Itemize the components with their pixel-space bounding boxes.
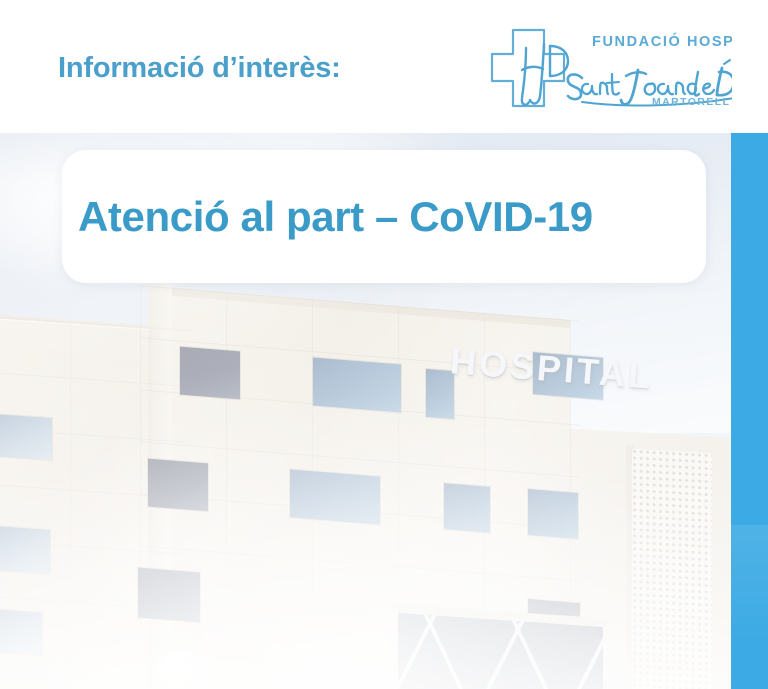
window [528,489,578,539]
canopy-brace [418,613,486,689]
logo-line3: MARTORELL [652,96,730,108]
window [0,526,50,574]
logo-line1: FUNDACIÓ HOSPITAL [592,32,732,50]
canopy-brace [506,613,574,689]
accent-bar-glint [731,525,768,645]
globe-lamp [158,651,204,689]
right-accent-bar [731,133,768,689]
header-band: Informació d’interès: FUNDACIÓ HOSPITAL [0,0,768,133]
canopy-brace [550,615,603,689]
title-card: Atenció al part – CoVID-19 [62,150,706,283]
entrance-canopy [398,613,603,689]
canopy-brace [462,613,530,689]
window [148,459,208,512]
perforated-facade-panel [632,449,712,689]
window [0,609,42,654]
window [138,568,200,623]
hospital-logo: FUNDACIÓ HOSPITAL [486,26,732,112]
window [444,483,490,533]
page-title: Informació d’interès: [58,52,341,85]
window [313,357,401,412]
poster-root: Informació d’interès: FUNDACIÓ HOSPITAL [0,0,768,689]
window [290,469,380,524]
window [180,347,240,400]
main-title: Atenció al part – CoVID-19 [78,193,593,241]
window [0,414,52,460]
canopy-brace [398,613,442,689]
